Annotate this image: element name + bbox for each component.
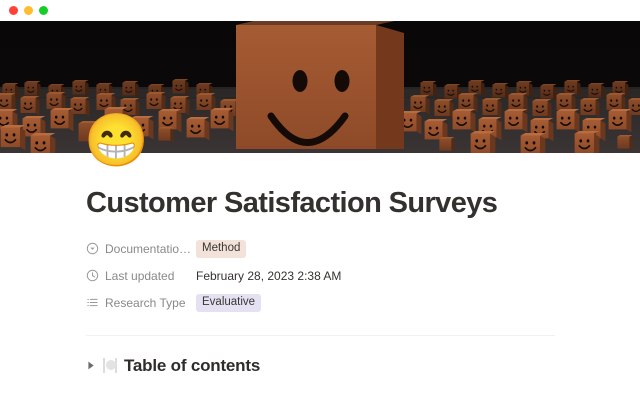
tag-method[interactable]: Method — [196, 240, 246, 258]
page-title[interactable]: Customer Satisfaction Surveys — [86, 186, 554, 221]
property-label-text: Research Type — [105, 296, 186, 310]
minimize-window-button[interactable] — [24, 6, 33, 15]
window-titlebar — [0, 0, 640, 21]
property-label-text: Documentation T… — [105, 242, 196, 256]
property-row-documentation-type[interactable]: Documentation T… Method — [86, 240, 554, 258]
missing-glyph-emoji-icon — [101, 357, 119, 375]
property-value[interactable]: Evaluative — [196, 294, 261, 312]
table-of-contents-title[interactable]: Table of contents — [124, 356, 260, 376]
tag-evaluative[interactable]: Evaluative — [196, 294, 261, 312]
select-icon — [86, 242, 99, 255]
notion-page-window: 😁 Customer Satisfaction Surveys Document… — [0, 0, 640, 400]
property-label: Documentation T… — [86, 242, 196, 256]
close-window-button[interactable] — [9, 6, 18, 15]
property-row-last-updated[interactable]: Last updated February 28, 2023 2:38 AM — [86, 267, 554, 285]
beaming-face-emoji-page-icon[interactable]: 😁 — [84, 113, 140, 169]
property-value[interactable]: Method — [196, 240, 246, 258]
property-label: Research Type — [86, 296, 196, 310]
property-label-text: Last updated — [105, 269, 174, 283]
content-divider — [86, 335, 555, 336]
list-icon — [86, 296, 99, 309]
maximize-window-button[interactable] — [39, 6, 48, 15]
property-row-research-type[interactable]: Research Type Evaluative — [86, 294, 554, 312]
clock-icon — [86, 269, 99, 282]
page-properties: Documentation T… Method Last updated — [86, 240, 554, 312]
table-of-contents-block[interactable]: Table of contents — [86, 356, 554, 376]
page-content: Customer Satisfaction Surveys Documentat… — [0, 153, 640, 376]
property-label: Last updated — [86, 269, 196, 283]
chevron-right-icon[interactable] — [86, 360, 96, 372]
property-value-date[interactable]: February 28, 2023 2:38 AM — [196, 269, 341, 283]
